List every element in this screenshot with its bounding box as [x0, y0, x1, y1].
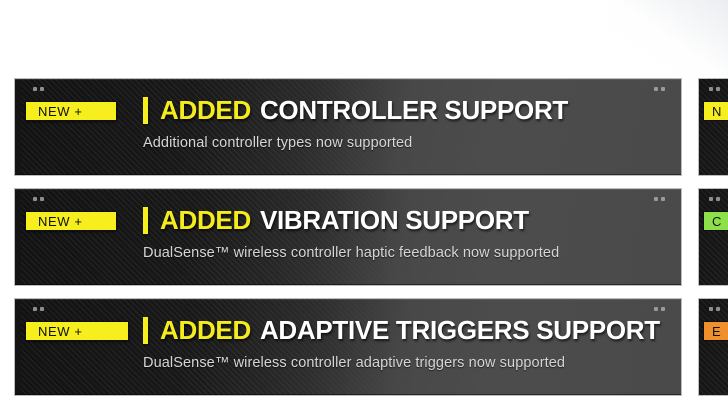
patch-note-card-partial[interactable]: C: [698, 188, 728, 286]
title-kicker: ADDED: [160, 95, 251, 126]
title-accent-bar: [143, 317, 148, 344]
patch-note-subtitle: DualSense™ wireless controller haptic fe…: [143, 245, 559, 261]
corner-dots-icon: [654, 307, 665, 311]
patch-note-title: ADDED CONTROLLER SUPPORT: [143, 95, 568, 126]
diagonal-hatch-texture: [15, 79, 681, 175]
patch-notes-screen: NEW + ADDED CONTROLLER SUPPORT Additiona…: [0, 0, 728, 410]
patch-notes-list: NEW + ADDED CONTROLLER SUPPORT Additiona…: [14, 78, 682, 408]
diagonal-hatch-texture: [699, 189, 728, 285]
corner-dots-icon: [709, 87, 720, 91]
title-main: VIBRATION SUPPORT: [260, 205, 529, 236]
status-badge: E: [703, 321, 728, 341]
patch-note-title: ADDED ADAPTIVE TRIGGERS SUPPORT: [143, 315, 660, 346]
corner-dots-icon: [33, 197, 44, 201]
diagonal-hatch-texture: [699, 299, 728, 395]
patch-note-card[interactable]: NEW + ADDED ADAPTIVE TRIGGERS SUPPORT Du…: [14, 298, 682, 396]
diagonal-hatch-texture: [15, 299, 681, 395]
title-accent-bar: [143, 207, 148, 234]
patch-note-card[interactable]: NEW + ADDED VIBRATION SUPPORT DualSense™…: [14, 188, 682, 286]
corner-dots-icon: [33, 87, 44, 91]
corner-dots-icon: [33, 307, 44, 311]
card-left-rail: [15, 189, 21, 285]
status-badge: NEW +: [25, 321, 129, 341]
patch-note-subtitle: DualSense™ wireless controller adaptive …: [143, 355, 565, 371]
title-accent-bar: [143, 97, 148, 124]
patch-note-title: ADDED VIBRATION SUPPORT: [143, 205, 529, 236]
corner-dots-icon: [654, 87, 665, 91]
corner-dots-icon: [709, 307, 720, 311]
patch-note-card-partial[interactable]: N: [698, 78, 728, 176]
patch-notes-list-secondary: N C E: [698, 78, 728, 408]
diagonal-hatch-texture: [699, 79, 728, 175]
corner-dots-icon: [654, 197, 665, 201]
corner-dots-icon: [709, 197, 720, 201]
status-badge: C: [703, 211, 728, 231]
page-sheen-decoration: [608, 0, 728, 90]
title-main: CONTROLLER SUPPORT: [260, 95, 568, 126]
card-inner-edge: [15, 299, 681, 395]
title-kicker: ADDED: [160, 205, 251, 236]
card-inner-edge: [15, 79, 681, 175]
card-inner-edge: [15, 189, 681, 285]
title-main: ADAPTIVE TRIGGERS SUPPORT: [260, 315, 660, 346]
status-badge: N: [703, 101, 728, 121]
patch-note-subtitle: Additional controller types now supporte…: [143, 135, 412, 151]
patch-note-card-partial[interactable]: E: [698, 298, 728, 396]
card-left-rail: [15, 79, 21, 175]
status-badge: NEW +: [25, 211, 117, 231]
status-badge: NEW +: [25, 101, 117, 121]
title-kicker: ADDED: [160, 315, 251, 346]
diagonal-hatch-texture: [15, 189, 681, 285]
card-left-rail: [15, 299, 21, 395]
patch-note-card[interactable]: NEW + ADDED CONTROLLER SUPPORT Additiona…: [14, 78, 682, 176]
